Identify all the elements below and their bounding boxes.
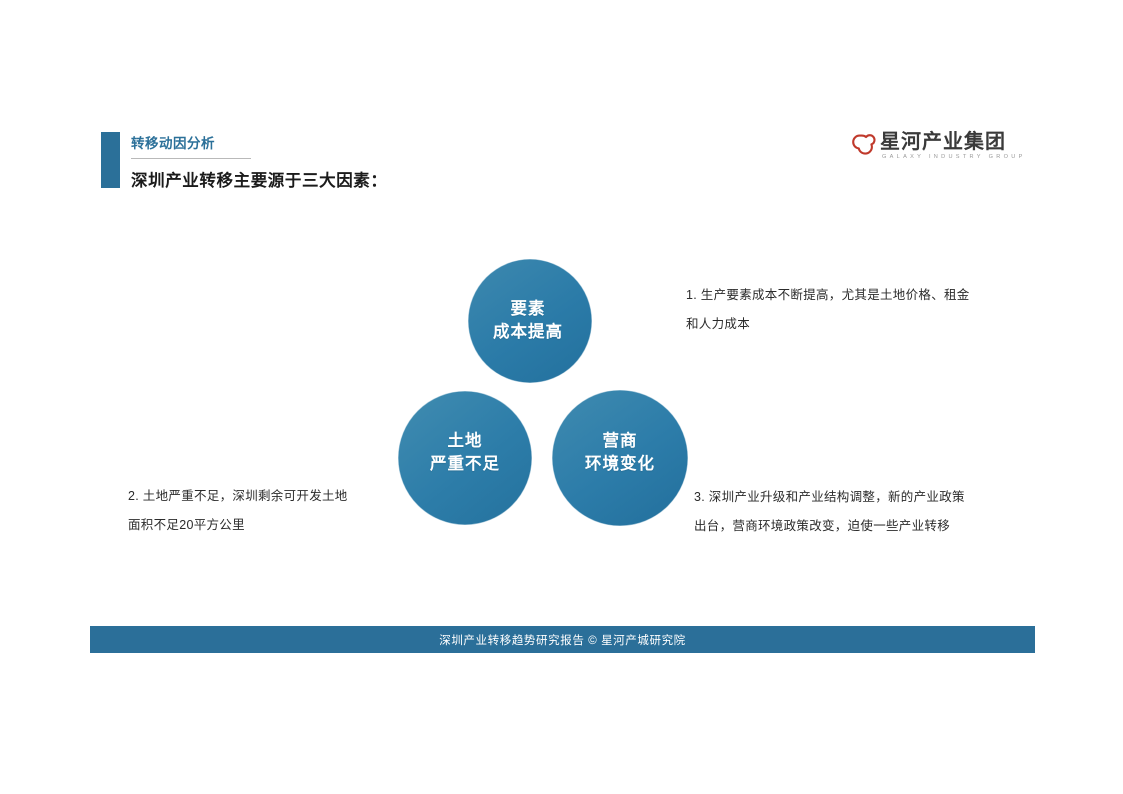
callout-land-shortage: 2. 土地严重不足，深圳剩余可开发土地面积不足20平方公里 <box>128 482 358 540</box>
venn-label-line2: 环境变化 <box>560 453 680 476</box>
logo-chinese-name: 星河产业集团 <box>880 131 1006 153</box>
venn-label-factor-cost: 要素 成本提高 <box>468 298 588 344</box>
header-divider <box>131 158 251 159</box>
slide-canvas: 转移动因分析 深圳产业转移主要源于三大因素： 星河产业集团 GALAXY IND… <box>0 0 1123 794</box>
venn-label-line1: 要素 <box>468 298 588 321</box>
galaxy-cloud-mark-icon <box>852 134 876 155</box>
callout-factor-cost: 1. 生产要素成本不断提高，尤其是土地价格、租金和人力成本 <box>686 281 976 339</box>
callout-business-environment: 3. 深圳产业升级和产业结构调整，新的产业政策出台，营商环境政策改变，迫使一些产… <box>694 483 966 541</box>
venn-label-line2: 成本提高 <box>468 321 588 344</box>
footer-text: 深圳产业转移趋势研究报告 © 星河产城研究院 <box>439 632 686 648</box>
section-eyebrow: 转移动因分析 <box>131 132 215 152</box>
page-title: 深圳产业转移主要源于三大因素： <box>131 167 388 191</box>
venn-diagram: 要素 成本提高 土地 严重不足 营商 环境变化 <box>380 240 710 540</box>
footer-bar: 深圳产业转移趋势研究报告 © 星河产城研究院 <box>90 626 1035 653</box>
venn-label-land-shortage: 土地 严重不足 <box>405 430 525 476</box>
company-logo: 星河产业集团 GALAXY INDUSTRY GROUP <box>852 131 1022 165</box>
venn-label-line1: 营商 <box>560 430 680 453</box>
logo-english-name: GALAXY INDUSTRY GROUP <box>882 154 1026 160</box>
venn-label-line1: 土地 <box>405 430 525 453</box>
venn-label-line2: 严重不足 <box>405 453 525 476</box>
header-accent-bar <box>101 132 120 188</box>
venn-label-business-environment: 营商 环境变化 <box>560 430 680 476</box>
